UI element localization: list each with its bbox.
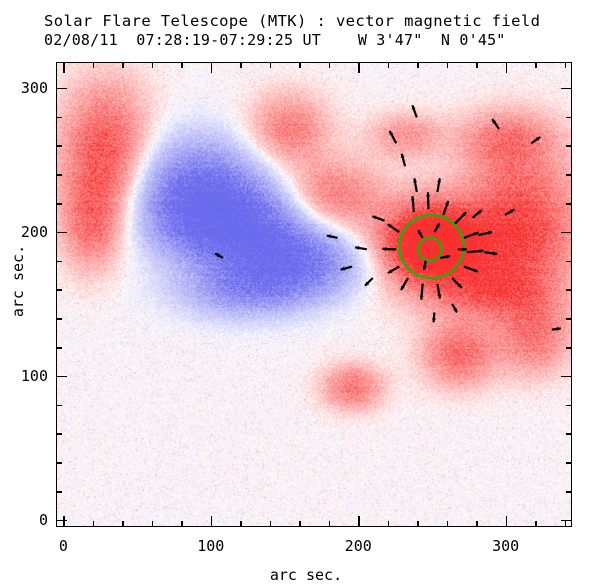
x-tick-top [329,62,331,68]
y-tick [56,88,67,90]
y-tick-right [566,145,572,147]
y-tick [56,174,62,176]
x-tick-top [506,62,508,73]
x-tick [329,521,331,527]
figure-title-block: Solar Flare Telescope (MTK) : vector mag… [44,12,584,50]
figure-subtitle: 02/08/11 07:28:19-07:29:25 UT W 3'47" N … [44,31,584,50]
x-tick-top [181,62,183,68]
x-tick-top [535,62,537,68]
x-tick-top [93,62,95,68]
solar-magnetogram-figure: Solar Flare Telescope (MTK) : vector mag… [0,0,612,585]
y-tick [56,462,62,464]
y-tick-label: 0 [0,511,48,529]
x-tick-label: 300 [492,537,519,555]
y-tick [56,376,67,378]
x-tick [270,521,272,527]
x-tick-top [476,62,478,68]
y-tick-label: 300 [0,79,48,97]
x-tick-top [565,62,567,68]
y-tick [56,145,62,147]
y-axis-title: arc sec. [9,231,27,331]
x-tick-top [358,62,360,73]
y-tick-right [566,462,572,464]
y-tick [56,289,62,291]
y-tick-right [561,520,572,522]
x-tick [447,521,449,527]
x-tick [565,521,567,527]
x-tick-label: 200 [345,537,372,555]
y-tick-right [566,289,572,291]
y-tick-right [566,261,572,263]
x-tick-top [63,62,65,73]
y-tick [56,232,67,234]
y-tick [56,491,62,493]
magnetogram-plot-area [56,62,572,527]
x-tick-label: 0 [59,537,68,555]
y-tick [56,318,62,320]
x-tick [240,521,242,527]
x-axis-title: arc sec. [0,566,612,584]
x-tick-top [299,62,301,68]
y-tick-right [566,174,572,176]
figure-title: Solar Flare Telescope (MTK) : vector mag… [44,12,584,31]
x-tick-top [211,62,213,73]
y-tick [56,433,62,435]
y-tick [56,520,67,522]
x-tick [476,521,478,527]
y-tick-right [561,232,572,234]
x-tick-top [270,62,272,68]
y-tick [56,203,62,205]
x-tick [63,516,65,527]
magnetic-field-heatmap [57,63,571,526]
x-tick [93,521,95,527]
y-tick-label: 100 [0,367,48,385]
x-tick [358,516,360,527]
x-tick [211,516,213,527]
x-tick [122,521,124,527]
y-tick-right [566,433,572,435]
x-tick-top [240,62,242,68]
y-tick-right [561,88,572,90]
x-tick-top [122,62,124,68]
y-tick-right [566,491,572,493]
x-tick-top [388,62,390,68]
x-tick-top [447,62,449,68]
x-tick [388,521,390,527]
y-tick-right [566,347,572,349]
y-tick [56,261,62,263]
x-tick [152,521,154,527]
y-tick-right [566,117,572,119]
y-tick [56,405,62,407]
x-tick [506,516,508,527]
x-tick-label: 100 [197,537,224,555]
y-tick-right [561,376,572,378]
x-tick-top [417,62,419,68]
x-tick [299,521,301,527]
y-tick-right [566,318,572,320]
y-tick [56,117,62,119]
x-tick [181,521,183,527]
x-tick [535,521,537,527]
x-tick-top [152,62,154,68]
x-tick [417,521,419,527]
y-tick-right [566,203,572,205]
y-tick [56,347,62,349]
y-tick-right [566,405,572,407]
